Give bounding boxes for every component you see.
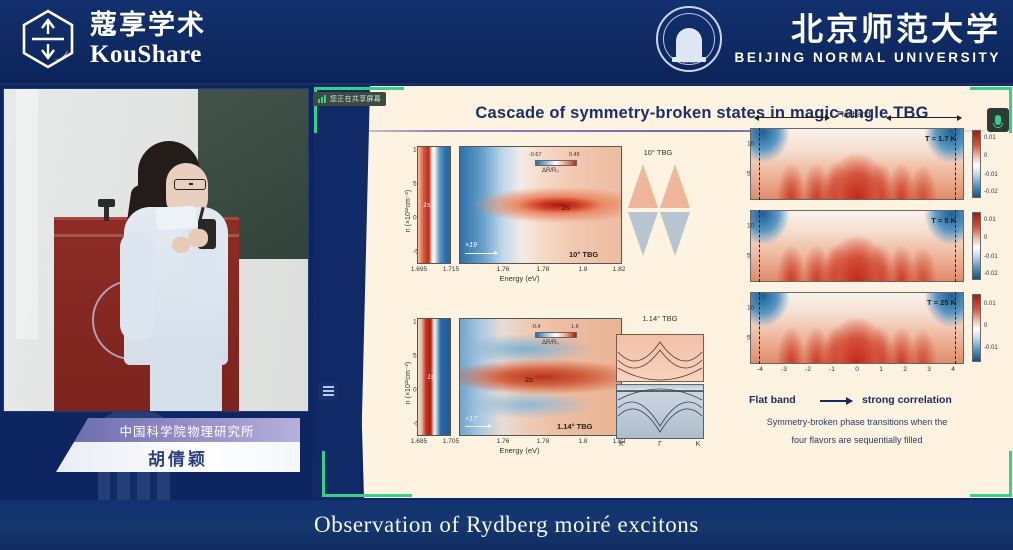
- xtick: -1: [829, 366, 835, 373]
- xtick: Γ: [658, 441, 662, 448]
- bnu-seal-year: 1902: [658, 59, 720, 65]
- podium-microphone-stand: [104, 205, 109, 221]
- xtick: 1.695: [411, 266, 427, 273]
- conclusion-line-1: Symmetry-broken phase transitions when t…: [707, 416, 1007, 430]
- ytick: 10: [413, 147, 414, 154]
- cbtick: 0: [984, 323, 987, 329]
- xtick: 1.705: [443, 438, 459, 445]
- xtick: 3: [927, 366, 931, 373]
- annotation-2s: 2s: [525, 375, 533, 384]
- xtick: -2: [805, 366, 811, 373]
- microphone-icon[interactable]: [987, 108, 1009, 132]
- xtick: 1: [879, 366, 883, 373]
- xtick: 1.8: [578, 266, 587, 273]
- cbtick: 0.01: [984, 301, 996, 307]
- page-header: 蔻享学术 KouShare 1902 北京师范大学 BEIJING NORMAL…: [0, 0, 1013, 85]
- chart-stm-T17K-title: T = 1.7 K: [925, 134, 956, 143]
- talk-title-banner: Observation of Rydberg moiré excitons: [0, 500, 1013, 550]
- chart-stm-T5K-colorbar: [972, 212, 981, 280]
- cbtick: -0.01: [984, 345, 998, 351]
- cbtick: 0: [984, 235, 987, 241]
- diagram-band-114deg: 1.14° TBG K' Γ K: [610, 314, 710, 444]
- share-corner-bottom-left: [322, 451, 412, 497]
- signal-bars-icon: [318, 95, 326, 103]
- chart-tbg-10deg: n (×10¹²cm⁻²) 10 5 0 -5 1s 1.695 1.715 2…: [417, 146, 622, 276]
- xtick: 1.8: [578, 438, 587, 445]
- chart-tbg-10deg-ylabel: n (×10¹²cm⁻²): [404, 190, 412, 232]
- chart-tbg-10deg-xlabel: Energy (eV): [417, 274, 622, 283]
- speaker-affiliation: 中国科学院物理研究所: [119, 421, 254, 440]
- screen-share-status-badge: 您正在共享屏幕: [313, 92, 386, 106]
- ytick: 5: [413, 353, 414, 360]
- flat-band-boundary-right: [955, 292, 956, 364]
- slide-title: Cascade of symmetry-broken states in mag…: [407, 104, 997, 123]
- xtick: 4: [951, 366, 955, 373]
- flat-band-range-arrow: [887, 117, 961, 118]
- xtick: K: [696, 441, 701, 448]
- colorbar-max: 0.45: [569, 152, 580, 158]
- cbtick: -0.01: [984, 254, 998, 260]
- cbtick: 0.01: [984, 217, 996, 223]
- annotation-1s: 1s: [423, 202, 430, 209]
- chart-stm-T25K: T = 25 K E (meV) 10 5 0.01 0 -0.01 -4 -3…: [750, 292, 964, 364]
- colorbar-min: -0.4: [531, 324, 540, 330]
- annotation-x19: ×19: [465, 242, 477, 249]
- chart-stm-T5K-title: T = 5 K: [931, 216, 956, 225]
- speaker-name: 胡倩颖: [148, 445, 208, 470]
- xtick: 1.78: [537, 266, 550, 273]
- cbtick: -0.02: [984, 271, 998, 277]
- annotation-x17: ×17: [465, 416, 477, 423]
- flat-band-range-arrow: [755, 117, 829, 118]
- speaker-nameplate: 中国科学院物理研究所 胡倩颖: [56, 418, 300, 472]
- xtick: -4: [757, 366, 763, 373]
- chart-stm-T17K-colorbar: [972, 130, 981, 198]
- conclusion-line-2: four flavors are sequentially filled: [707, 434, 1007, 448]
- flat-band-structure: [616, 334, 704, 439]
- chart-tbg-114deg-colorbar: [535, 332, 577, 338]
- ytick: 10: [413, 319, 414, 326]
- scale-arrow: [465, 253, 497, 254]
- xtick: 1.82: [613, 266, 626, 273]
- chart-tbg-114deg-title: 1.14° TBG: [557, 422, 593, 431]
- share-corner-bottom-right: [970, 451, 1012, 497]
- dirac-cone-right: [660, 164, 690, 256]
- chart-tbg-114deg-ylabel: n (×10¹²cm⁻²): [404, 362, 412, 404]
- chart-tbg-114deg: n (×10¹²cm⁻²) 10 5 0 -5 1s 1.685 1.705 2…: [417, 318, 622, 448]
- hexagon-arrows-logo-icon: [18, 8, 78, 70]
- wall-pillar: [16, 89, 38, 339]
- annotation-1s: 1s: [427, 374, 434, 381]
- diagram-band-10deg-title: 10° TBG: [612, 148, 704, 157]
- xtick: 1.76: [497, 266, 510, 273]
- xtick: 1.715: [443, 266, 459, 273]
- chart-stm-T25K-colorbar: [972, 294, 981, 362]
- xtick: K': [619, 441, 625, 448]
- colorbar-label: ΔR/R₀: [542, 168, 559, 174]
- xtick: 1.685: [411, 438, 427, 445]
- speaker-name-bar: 胡倩颖: [56, 442, 300, 472]
- conclusion-left-term: Flat band: [749, 394, 796, 406]
- cbtick: -0.01: [984, 172, 998, 178]
- flat-band-boundary-right: [955, 128, 956, 200]
- xtick: 0: [855, 366, 859, 373]
- cbtick: -0.02: [984, 189, 998, 195]
- presentation-slide[interactable]: Cascade of symmetry-broken states in mag…: [312, 86, 1013, 498]
- chart-tbg-10deg-colorbar: [535, 160, 577, 166]
- colorbar-min: -0.67: [529, 152, 542, 158]
- chart-tbg-114deg-xlabel: Energy (eV): [417, 446, 622, 455]
- scale-arrow: [465, 426, 491, 427]
- conclusion-arrow-icon: [820, 400, 852, 402]
- koushare-logo: 蔻享学术 KouShare: [18, 8, 206, 70]
- flat-band-boundary-right: [955, 210, 956, 282]
- screen-share-status-text: 您正在共享屏幕: [330, 94, 381, 104]
- bnu-seal-icon: 1902: [656, 6, 722, 72]
- flat-band-annotation: Flat band: [837, 110, 870, 119]
- chart-stm-T17K: T = 1.7 K E (meV) 10 5 0.01 0 -0.01 -0.0…: [750, 128, 964, 200]
- ytick: -5: [413, 421, 414, 428]
- shared-screen-region[interactable]: Cascade of symmetry-broken states in mag…: [312, 86, 1013, 498]
- xtick: 1.78: [537, 438, 550, 445]
- ytick: 0: [413, 215, 414, 222]
- chart-stm-T25K-title: T = 25 K: [927, 298, 956, 307]
- flat-band-boundary-left: [759, 128, 760, 200]
- diagram-band-10deg: 10° TBG: [612, 148, 704, 258]
- xtick: 2: [903, 366, 907, 373]
- speaker-affiliation-bar: 中国科学院物理研究所: [74, 418, 300, 442]
- diagram-band-114deg-title: 1.14° TBG: [610, 314, 710, 323]
- presenter-video[interactable]: [3, 88, 309, 412]
- flat-band-boundary-left: [759, 292, 760, 364]
- koushare-cn-name: 蔻享学术: [90, 12, 206, 39]
- ytick: -5: [413, 249, 414, 256]
- dirac-cone-left: [628, 164, 658, 256]
- bnu-logo: 1902 北京师范大学 BEIJING NORMAL UNIVERSITY: [656, 6, 1001, 72]
- koushare-en-name: KouShare: [90, 42, 206, 67]
- ytick: 5: [413, 181, 414, 188]
- hamburger-menu-icon[interactable]: [318, 382, 338, 400]
- cbtick: 0.01: [984, 135, 996, 141]
- colorbar-max: 1.6: [571, 324, 579, 330]
- bnu-cn-name: 北京师范大学: [791, 13, 1001, 45]
- bnu-en-name: BEIJING NORMAL UNIVERSITY: [734, 51, 1001, 65]
- xtick: -3: [781, 366, 787, 373]
- ytick: 0: [413, 387, 414, 394]
- annotation-2s: 2s: [562, 203, 570, 212]
- talk-title: Observation of Rydberg moiré excitons: [314, 512, 699, 538]
- chart-tbg-10deg-title: 10° TBG: [569, 250, 598, 259]
- colorbar-label: ΔR/R₀: [542, 340, 559, 346]
- conclusion-right-term: strong correlation: [862, 394, 952, 406]
- glasses-icon: [174, 179, 206, 190]
- presenter-figure: [122, 141, 230, 412]
- xtick: 1.76: [497, 438, 510, 445]
- cbtick: 0: [984, 153, 987, 159]
- chart-stm-T5K: T = 5 K E (meV) 10 5 0.01 0 -0.01 -0.02: [750, 210, 964, 282]
- flat-band-boundary-left: [759, 210, 760, 282]
